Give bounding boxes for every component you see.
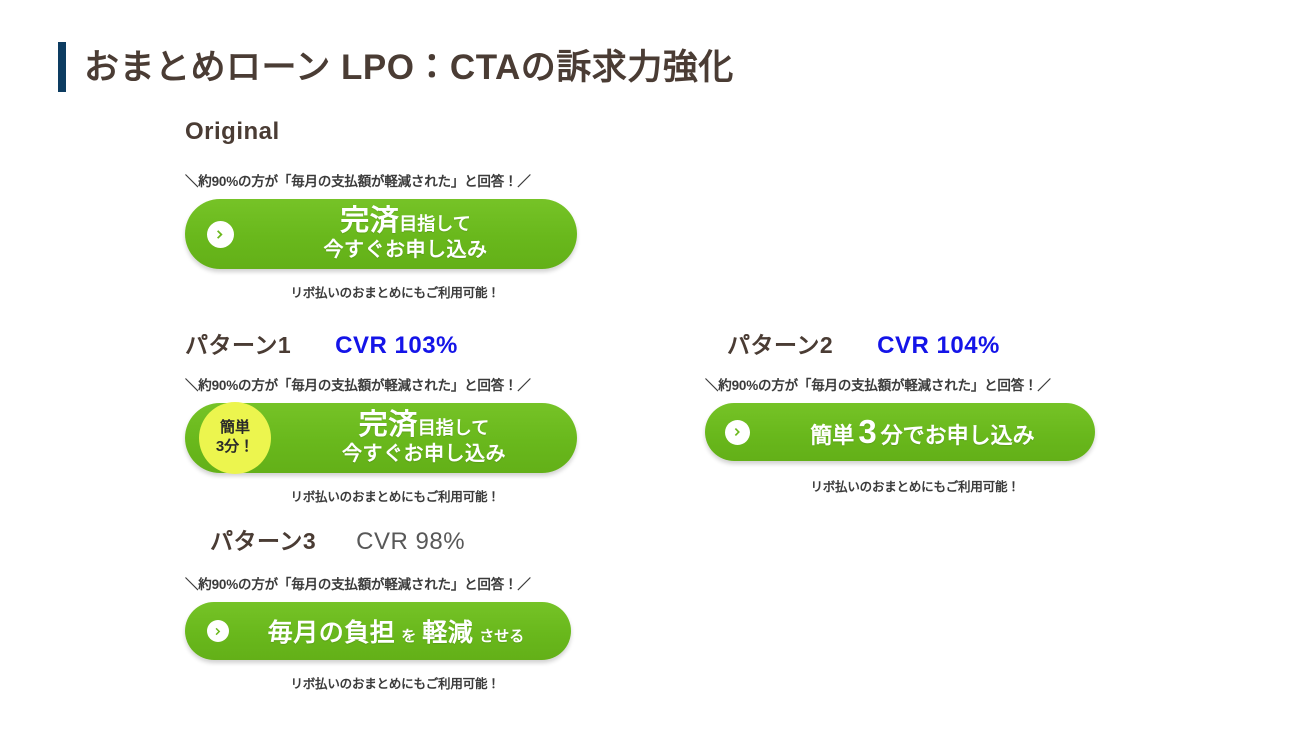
cta-button-pattern-3[interactable]: 毎月の負担 を 軽減 させる xyxy=(185,602,571,660)
chevron-right-circle-icon xyxy=(725,420,750,445)
cta-label: 簡単 3 分でお申し込み xyxy=(750,415,1095,450)
cta-part-2: 分でお申し込み xyxy=(881,418,1035,450)
cta-button-pattern-2[interactable]: 簡単 3 分でお申し込み xyxy=(705,403,1095,461)
variant-label: Original xyxy=(185,118,280,146)
variant-header: パターン2 CVR 104% xyxy=(705,326,1125,356)
cta-footnote: リボ払いのおまとめにもご利用可能！ xyxy=(185,673,605,692)
cta-caption: ＼約90%の方が「毎月の支払額が軽減された」と回答！／ xyxy=(185,170,605,190)
badge-line-2: 3分！ xyxy=(216,438,254,457)
variant-label: パターン2 xyxy=(727,326,833,360)
variant-original: Original ＼約90%の方が「毎月の支払額が軽減された」と回答！／ 完済目… xyxy=(185,118,605,301)
variant-label: パターン3 xyxy=(210,522,316,556)
variant-header: パターン1 CVR 103% xyxy=(185,326,605,356)
cta-part-3: 軽減 xyxy=(422,613,473,649)
variant-header: Original xyxy=(185,118,605,152)
cvr-metric: CVR 98% xyxy=(356,528,465,556)
cta-part-4: させる xyxy=(479,625,524,646)
badge-line-1: 簡単 xyxy=(220,419,250,438)
variant-pattern-3: パターン3 CVR 98% ＼約90%の方が「毎月の支払額が軽減された」と回答！… xyxy=(185,522,605,692)
cta-part-1: 簡単 xyxy=(810,418,854,450)
cta-footnote: リボ払いのおまとめにもご利用可能！ xyxy=(705,476,1125,495)
cta-line2: 今すぐお申し込み xyxy=(324,239,488,261)
cta-part-2: を xyxy=(401,625,416,646)
cta-line1-main: 完済 xyxy=(340,205,399,237)
cta-number: 3 xyxy=(858,415,876,448)
slide-canvas: おまとめローン LPO：CTAの訴求力強化 Original ＼約90%の方が「… xyxy=(0,0,1300,731)
chevron-right-circle-icon xyxy=(207,221,234,248)
variant-header: パターン3 CVR 98% xyxy=(185,522,605,552)
cta-label: 完済目指して 今すぐお申し込み xyxy=(271,410,577,465)
cvr-metric: CVR 103% xyxy=(335,332,458,360)
title-accent-bar xyxy=(58,42,66,92)
cta-caption: ＼約90%の方が「毎月の支払額が軽減された」と回答！／ xyxy=(185,573,605,593)
cta-line1-main: 完済 xyxy=(359,409,418,441)
variant-pattern-2: パターン2 CVR 104% ＼約90%の方が「毎月の支払額が軽減された」と回答… xyxy=(705,326,1125,495)
variant-pattern-1: パターン1 CVR 103% ＼約90%の方が「毎月の支払額が軽減された」と回答… xyxy=(185,326,605,505)
cta-label: 完済目指して 今すぐお申し込み xyxy=(234,206,577,261)
speed-badge: 簡単 3分！ xyxy=(199,402,271,474)
cta-line1-sub: 目指して xyxy=(399,214,470,234)
slide-title-row: おまとめローン LPO：CTAの訴求力強化 xyxy=(58,42,734,92)
cta-button-pattern-1[interactable]: 簡単 3分！ 完済目指して 今すぐお申し込み xyxy=(185,403,577,473)
chevron-right-circle-icon xyxy=(207,620,229,642)
cta-caption: ＼約90%の方が「毎月の支払額が軽減された」と回答！／ xyxy=(705,374,1125,394)
page-title: おまとめローン LPO：CTAの訴求力強化 xyxy=(84,50,734,85)
cta-footnote: リボ払いのおまとめにもご利用可能！ xyxy=(185,486,605,505)
cta-label: 毎月の負担 を 軽減 させる xyxy=(229,613,571,649)
cta-footnote: リボ払いのおまとめにもご利用可能！ xyxy=(185,282,605,301)
cvr-metric: CVR 104% xyxy=(877,332,1000,360)
cta-button-original[interactable]: 完済目指して 今すぐお申し込み xyxy=(185,199,577,269)
cta-line2: 今すぐお申し込み xyxy=(342,443,506,465)
cta-caption: ＼約90%の方が「毎月の支払額が軽減された」と回答！／ xyxy=(185,374,605,394)
cta-line1-sub: 目指して xyxy=(418,418,489,438)
cta-part-1: 毎月の負担 xyxy=(268,613,396,649)
variant-label: パターン1 xyxy=(185,326,291,360)
